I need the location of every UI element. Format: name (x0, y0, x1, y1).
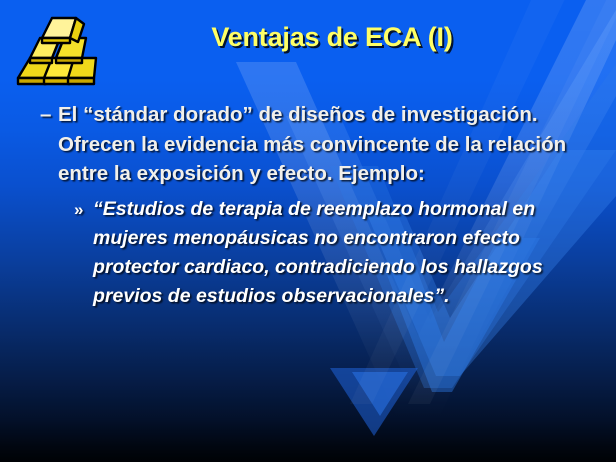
slide-canvas: Ventajas de ECA (I) – El “stándar dorado… (0, 0, 616, 462)
slide-body: – El “stándar dorado” de diseños de inve… (0, 100, 616, 311)
slide-title: Ventajas de ECA (I) (0, 22, 616, 53)
bullet-level2-quote-text: “Estudios de terapia de reemplazo hormon… (93, 195, 570, 311)
bullet-level1-text: El “stándar dorado” de diseños de invest… (58, 100, 576, 189)
bullet-dash-marker: – (40, 100, 51, 130)
bullet-level2: » “Estudios de terapia de reemplazo horm… (0, 195, 616, 311)
bullet-chevron-marker: » (74, 195, 83, 224)
bullet-level1: – El “stándar dorado” de diseños de inve… (0, 100, 616, 189)
